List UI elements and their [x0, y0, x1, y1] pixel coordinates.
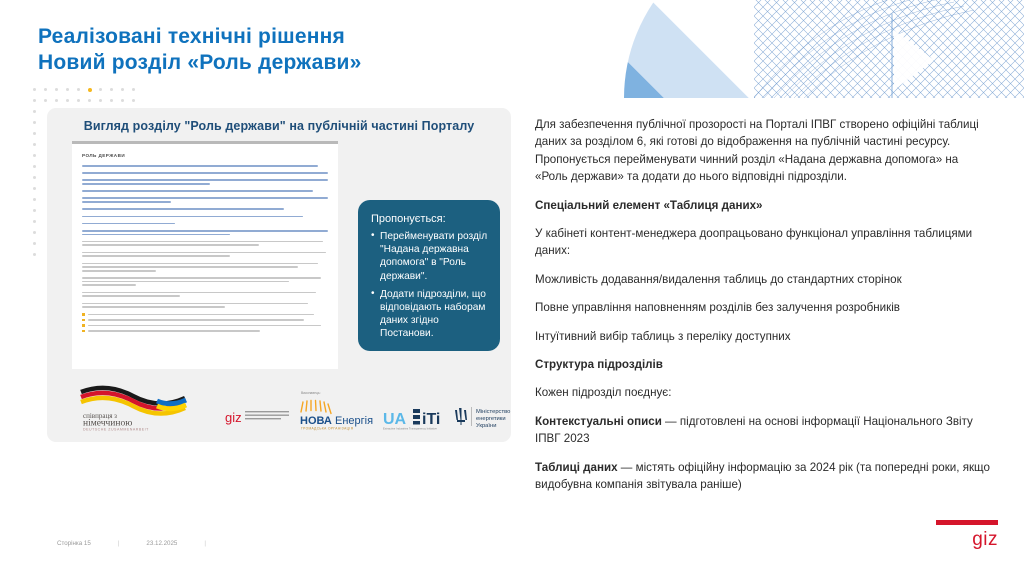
footer-separator-2: | [204, 540, 206, 547]
decorative-dot [110, 88, 113, 91]
section-heading-data-table: Спеціальний елемент «Таблиця даних» [535, 197, 993, 214]
portal-text-line [88, 325, 322, 327]
decorative-dot [99, 99, 102, 102]
portal-bullet-marker [82, 319, 85, 322]
ua-eiti-logo: UA iTi Extractive Industries Transparenc… [383, 409, 440, 431]
portal-text-block [82, 165, 328, 167]
portal-bullet-row [82, 313, 328, 316]
ministry-of-energy-logo: Міністерство енергетики України [455, 407, 510, 429]
proposal-callout-heading: Пропонується: [371, 213, 489, 225]
decorative-dot [88, 99, 91, 102]
portal-text-line [82, 172, 328, 174]
portal-text-block [82, 230, 328, 235]
decorative-dot [55, 99, 58, 102]
decorative-dot [33, 242, 36, 245]
paragraph-manager-cabinet: У кабінеті контент-менеджера доопрацьова… [535, 225, 993, 260]
portal-screenshot: РОЛЬ ДЕРЖАВИ [72, 141, 338, 369]
paragraph-intuitive-choice: Інтуїтивний вибір таблиць з переліку дос… [535, 328, 993, 345]
svg-text:giz: giz [225, 410, 242, 425]
page-title-line-2: Новий розділ «Роль держави» [38, 50, 362, 76]
decorative-dot [33, 143, 36, 146]
decorative-dot [44, 88, 47, 91]
portal-text-line [82, 197, 328, 199]
portal-text-line [82, 284, 136, 286]
svg-text:енергетики: енергетики [476, 416, 506, 422]
portal-bullet-marker [82, 313, 85, 316]
portal-text-block [82, 172, 328, 174]
giz-logo: giz [225, 410, 289, 425]
decorative-dot [33, 187, 36, 190]
portal-text-line [88, 319, 304, 321]
svg-text:Міністерство: Міністерство [476, 409, 510, 415]
portal-text-block [82, 292, 328, 297]
portal-text-line [82, 263, 318, 265]
decorative-dot [33, 110, 36, 113]
paragraph-full-management: Повне управління наповненням розділів бе… [535, 299, 993, 316]
decorative-dot [33, 132, 36, 135]
decorative-dot [99, 88, 102, 91]
paragraph-each-subsection: Кожен підрозділ поєднує: [535, 384, 993, 401]
nova-energia-logo: Виконавець: НОВА Енергія ГРОМАДСЬКА ОРГА… [300, 391, 373, 431]
portal-bullet-row [82, 319, 328, 322]
card-header: Вигляд розділу "Роль держави" на публічн… [47, 119, 511, 133]
portal-text-line [82, 266, 298, 268]
portal-text-line [88, 314, 314, 316]
section-heading-structure: Структура підрозділів [535, 356, 993, 373]
portal-text-line [82, 223, 175, 225]
portal-text-line [82, 255, 230, 257]
decorative-dot [33, 88, 36, 91]
content-column: Для забезпечення публічної прозорості на… [535, 116, 993, 505]
portal-text-line [82, 252, 326, 254]
portal-text-line [82, 244, 259, 246]
portal-text-block [82, 263, 328, 272]
footer-separator-1: | [118, 540, 120, 547]
portal-text-line [82, 270, 156, 272]
paragraph-data-tables: Таблиці даних — містять офіційну інформа… [535, 459, 993, 494]
decorative-dot [33, 99, 36, 102]
paragraph-contextual-descriptions: Контекстуальні описи — підготовлені на о… [535, 413, 993, 448]
giz-bar [936, 520, 998, 525]
decorative-dot [44, 99, 47, 102]
intro-paragraph: Для забезпечення публічної прозорості на… [535, 116, 993, 186]
portal-text-line [82, 306, 225, 308]
german-ukrainian-cooperation-logo [81, 388, 186, 414]
decorative-dot [33, 121, 36, 124]
portal-text-line [82, 201, 171, 203]
decorative-dot [66, 88, 69, 91]
svg-text:ГРОМАДСЬКА ОРГАНІЗАЦІЯ: ГРОМАДСЬКА ОРГАНІЗАЦІЯ [301, 427, 354, 431]
svg-text:НОВА: НОВА [300, 415, 332, 427]
proposal-callout-list: Перейменувати розділ "Надана державна до… [371, 230, 489, 341]
portal-screenshot-heading: РОЛЬ ДЕРЖАВИ [82, 153, 338, 158]
portal-text-line [82, 216, 303, 218]
portal-text-block [82, 223, 328, 225]
portal-text-block [82, 216, 328, 218]
portal-text-line [82, 241, 323, 243]
portal-text-block [82, 197, 328, 202]
proposal-callout: Пропонується: Перейменувати розділ "Нада… [358, 200, 500, 351]
portal-bullet-row [82, 324, 328, 327]
list-item: Перейменувати розділ "Надана державна до… [371, 230, 489, 283]
svg-text:DEUTSCHE ZUSAMMENARBEIT: DEUTSCHE ZUSAMMENARBEIT [83, 428, 149, 432]
portal-text-line [88, 330, 260, 332]
page-title-line-1: Реалізовані технічні рішення [38, 24, 362, 50]
decorative-arc-graphic [604, 0, 1024, 98]
decorative-dot [66, 99, 69, 102]
svg-text:Виконавець:: Виконавець: [301, 391, 321, 395]
illustration-card: Вигляд розділу "Роль держави" на публічн… [47, 108, 511, 442]
giz-wordmark: giz [936, 530, 998, 549]
portal-text-line [82, 277, 321, 279]
decorative-dot [77, 88, 80, 91]
svg-text:Енергія: Енергія [335, 415, 373, 427]
portal-text-block [82, 252, 328, 257]
portal-text-line [82, 165, 318, 167]
decorative-dot [88, 88, 92, 92]
portal-screenshot-body [82, 165, 328, 332]
decorative-dot [33, 165, 36, 168]
portal-text-line [82, 179, 328, 181]
portal-text-line [82, 190, 313, 192]
decorative-dot [33, 253, 36, 256]
portal-text-block [82, 303, 328, 308]
decorative-dot [33, 220, 36, 223]
svg-text:Extractive Industries Transpar: Extractive Industries Transparency Initi… [383, 427, 437, 431]
paragraph-add-remove-tables: Можливість додавання/видалення таблиць д… [535, 271, 993, 288]
data-tables-label: Таблиці даних [535, 461, 618, 474]
page-title: Реалізовані технічні рішення Новий розді… [38, 24, 362, 76]
footer-date: 23.12.2025 [146, 540, 177, 547]
svg-text:UA: UA [383, 411, 407, 428]
portal-text-block [82, 190, 328, 192]
footer: Сторінка 15 | 23.12.2025 | [57, 540, 206, 547]
decorative-dot [55, 88, 58, 91]
portal-text-line [82, 281, 289, 283]
page-number: Сторінка 15 [57, 540, 91, 547]
portal-text-line [82, 183, 210, 185]
portal-text-line [82, 303, 308, 305]
giz-brand-logo: giz [936, 520, 998, 549]
contextual-descriptions-label: Контекстуальні описи [535, 415, 662, 428]
portal-text-block [82, 208, 328, 210]
portal-text-line [82, 208, 284, 210]
svg-text:України: України [476, 423, 496, 429]
portal-bullet-row [82, 330, 328, 333]
decorative-dot [132, 99, 135, 102]
decorative-dot [121, 88, 124, 91]
portal-text-line [82, 295, 180, 297]
portal-bullet-marker [82, 330, 85, 333]
portal-text-line [82, 234, 230, 236]
decorative-dot [33, 209, 36, 212]
decorative-dot [33, 176, 36, 179]
decorative-dot [77, 99, 80, 102]
portal-text-line [82, 230, 328, 232]
portal-text-block [82, 277, 328, 286]
decorative-dot [132, 88, 135, 91]
portal-text-block [82, 179, 328, 184]
partner-logos-strip: співпраця з німеччиною DEUTSCHE ZUSAMMEN… [47, 380, 511, 432]
portal-text-line [82, 292, 316, 294]
portal-bullet-marker [82, 324, 85, 327]
decorative-dot [33, 198, 36, 201]
decorative-dot [121, 99, 124, 102]
decorative-dot [33, 231, 36, 234]
list-item: Додати підрозділи, що відповідають набор… [371, 288, 489, 341]
decorative-dot [110, 99, 113, 102]
svg-text:iTi: iTi [422, 411, 440, 428]
portal-text-block [82, 241, 328, 246]
decorative-dot [33, 154, 36, 157]
